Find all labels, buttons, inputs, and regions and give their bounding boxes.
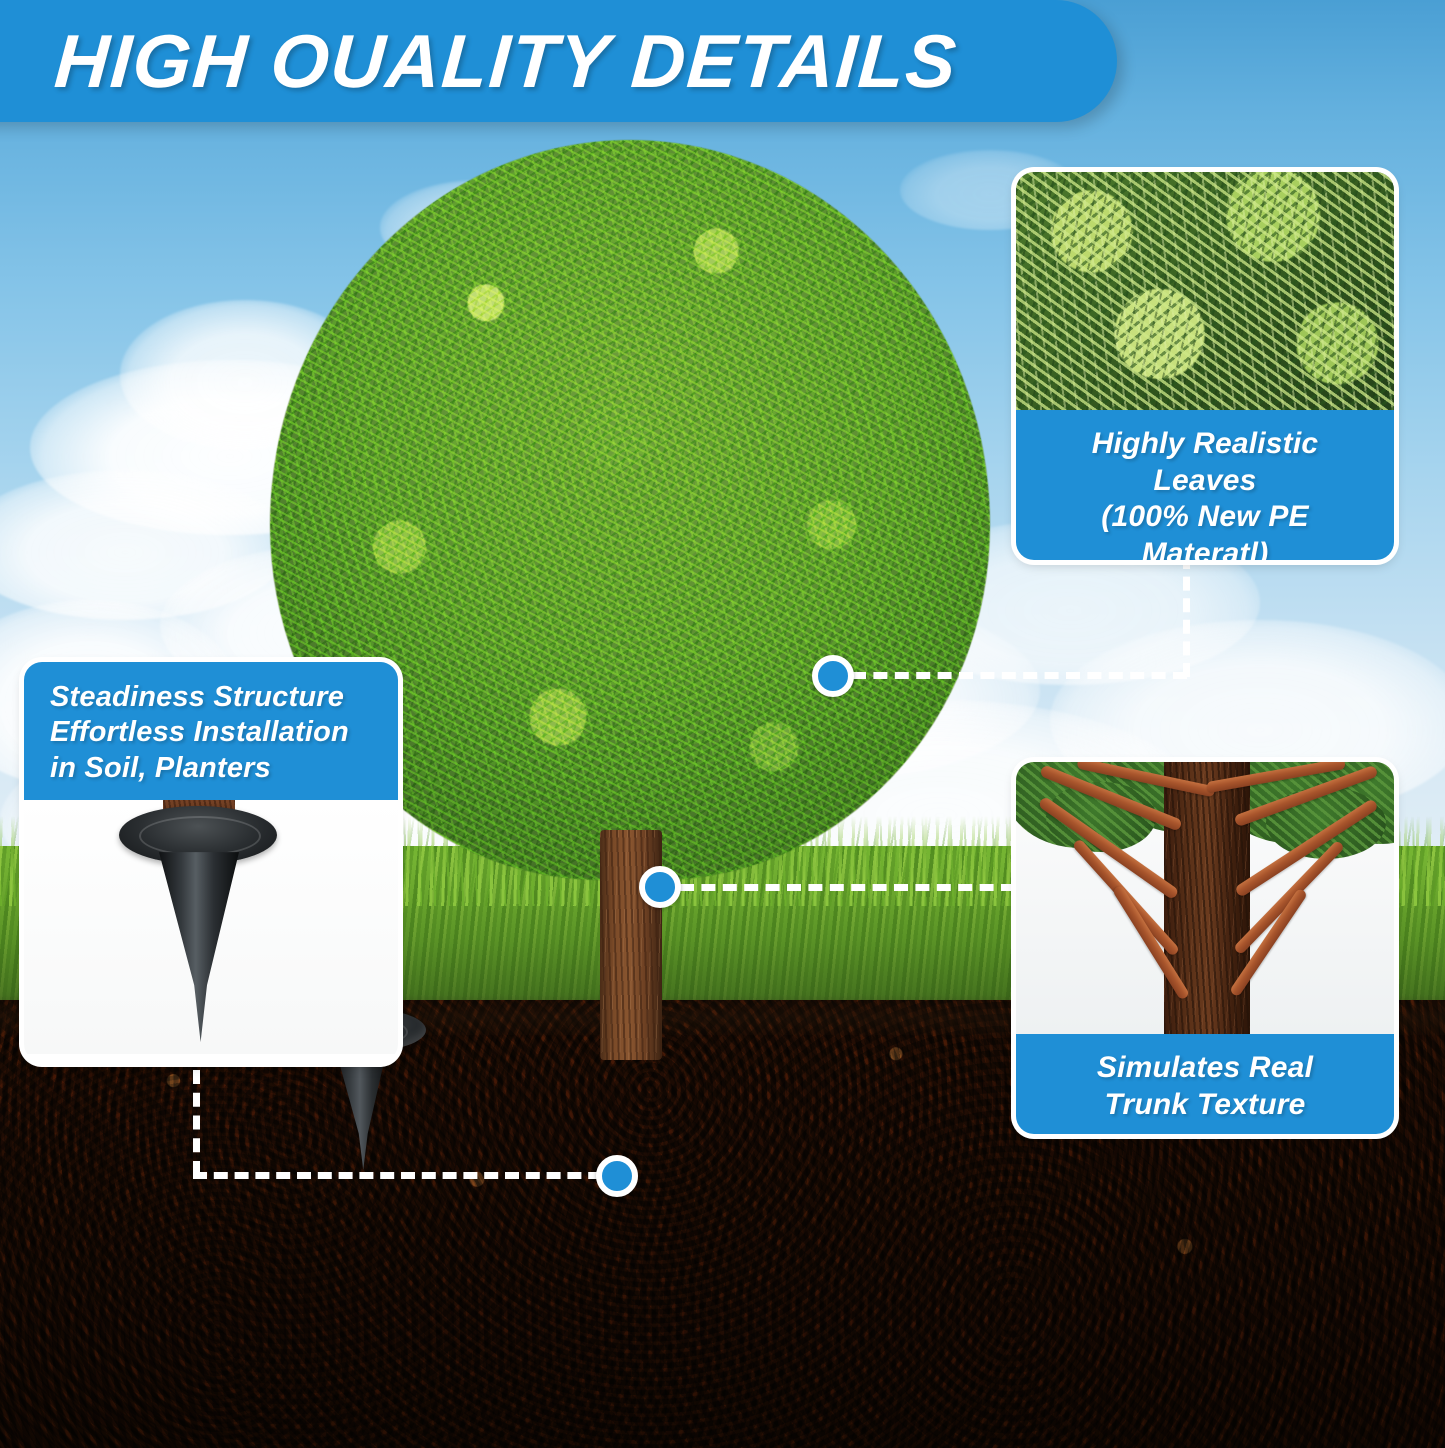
callout-label-line: (100% New PE Materatl): [1036, 499, 1374, 560]
callout-label-trunk: Simulates Real Trunk Texture: [1016, 1034, 1394, 1134]
ground-stake-photo: [24, 800, 398, 1054]
connector-line-stake-vertical: [193, 1070, 200, 1175]
connector-line-stake-horizontal: [193, 1172, 623, 1179]
callout-label-line: Effortless Installation: [50, 715, 378, 750]
callout-label-line: Trunk Texture: [1036, 1087, 1374, 1124]
connector-line-leaves-vertical: [1183, 555, 1190, 677]
leaf-foliage-texture: [1016, 172, 1394, 410]
connector-line-trunk-horizontal: [680, 884, 1015, 891]
callout-label-line: Highly Realistic Leaves: [1036, 426, 1374, 499]
callout-label-line: in Soil, Planters: [50, 751, 378, 786]
stake-photo-background: [24, 800, 398, 1054]
trunk-photo-background: [1016, 762, 1394, 1034]
leaf-closeup-photo: [1016, 172, 1394, 410]
callout-label-line: Steadiness Structure: [50, 680, 378, 715]
callout-dot-leaves[interactable]: [812, 655, 854, 697]
page-title: HIGH OUALITY DETAILS: [52, 18, 1038, 104]
callout-dot-stake[interactable]: [596, 1155, 638, 1197]
callout-card-stake[interactable]: Steadiness Structure Effortless Installa…: [24, 662, 398, 1062]
tree-trunk: [600, 830, 662, 1060]
callout-label-leaves: Highly Realistic Leaves (100% New PE Mat…: [1016, 410, 1394, 560]
infographic-canvas: HIGH OUALITY DETAILS Highly Realistic Le…: [0, 0, 1445, 1448]
callout-card-leaves[interactable]: Highly Realistic Leaves (100% New PE Mat…: [1016, 172, 1394, 560]
stake-cone: [159, 852, 239, 1042]
callout-label-stake: Steadiness Structure Effortless Installa…: [24, 662, 398, 800]
connector-line-leaves-horizontal: [852, 672, 1187, 679]
callout-label-line: Simulates Real: [1036, 1050, 1374, 1087]
header-banner: HIGH OUALITY DETAILS: [0, 0, 1117, 122]
callout-dot-trunk[interactable]: [639, 866, 681, 908]
trunk-closeup-photo: [1016, 762, 1394, 1034]
callout-card-trunk[interactable]: Simulates Real Trunk Texture: [1016, 762, 1394, 1134]
